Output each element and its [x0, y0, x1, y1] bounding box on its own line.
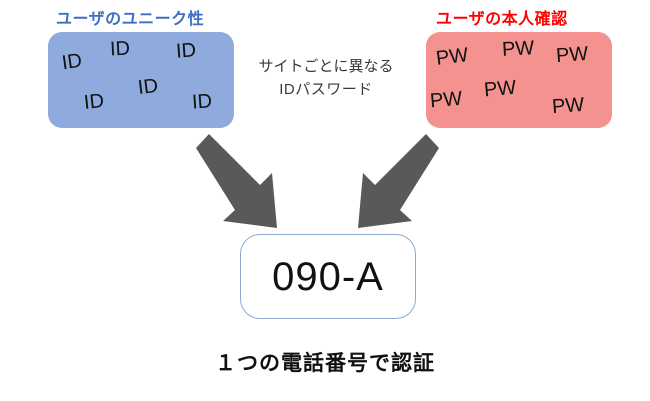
- id-group-box: ID ID ID ID ID ID: [48, 32, 234, 128]
- pw-group-box: PW PW PW PW PW PW: [426, 32, 612, 128]
- pw-token: PW: [501, 38, 534, 60]
- left-group-title: ユーザのユニーク性: [56, 5, 204, 29]
- phone-number-value: 090-A: [272, 257, 384, 297]
- pw-token: PW: [555, 44, 589, 66]
- arrow-down-left-icon: [358, 134, 448, 234]
- id-token: ID: [83, 91, 105, 113]
- phone-number-box: 090-A: [240, 234, 416, 319]
- id-token: ID: [175, 40, 196, 61]
- id-token: ID: [109, 38, 130, 59]
- arrow-down-right-icon: [196, 134, 286, 234]
- middle-note-line2: IDパスワード: [246, 78, 406, 101]
- pw-token: PW: [551, 95, 585, 117]
- id-token: ID: [61, 51, 84, 74]
- right-group-title: ユーザの本人確認: [436, 5, 568, 29]
- id-token: ID: [191, 91, 212, 112]
- middle-note-line1: サイトごとに異なる: [246, 55, 406, 78]
- id-token: ID: [137, 76, 159, 98]
- pw-token: PW: [483, 78, 517, 101]
- pw-token: PW: [429, 89, 463, 112]
- diagram-canvas: ユーザのユニーク性 ID ID ID ID ID ID ユーザの本人確認 PW …: [0, 0, 650, 401]
- middle-note: サイトごとに異なる IDパスワード: [246, 55, 406, 102]
- pw-token: PW: [435, 45, 469, 69]
- bottom-caption: １つの電話番号で認証: [0, 347, 650, 377]
